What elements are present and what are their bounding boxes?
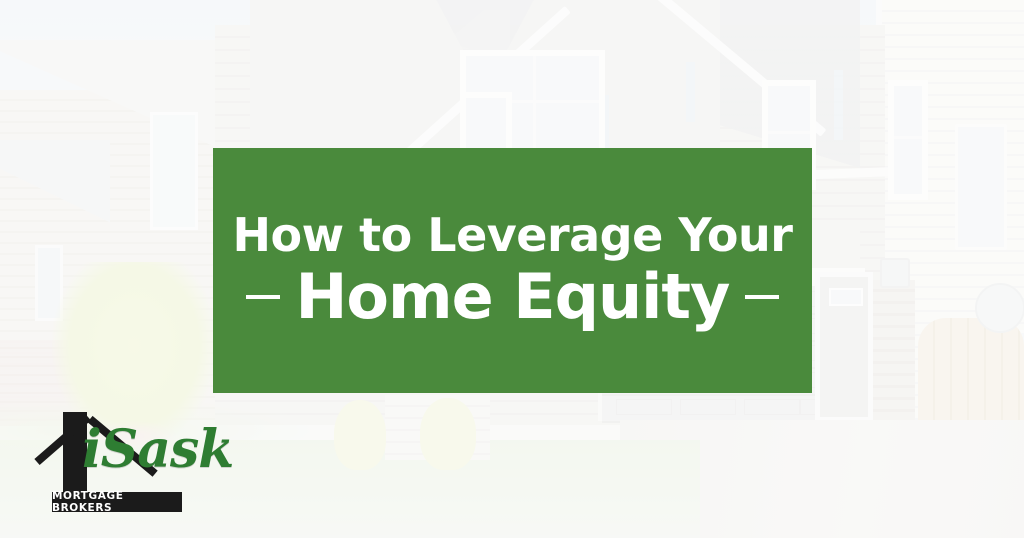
banner-image: How to Leverage Your Home Equity iSask M… xyxy=(0,0,1024,538)
trim-strip-3 xyxy=(834,70,843,140)
window-mullion-horizontal xyxy=(894,136,922,139)
isask-logo[interactable]: iSask MORTGAGE BROKERS xyxy=(30,400,182,515)
headline-banner: How to Leverage Your Home Equity xyxy=(213,148,812,393)
satellite-dish-icon xyxy=(975,283,1024,333)
shrub-right xyxy=(420,398,476,470)
logo-brand-text: iSask xyxy=(82,424,233,476)
headline-line-2-row: Home Equity xyxy=(246,264,780,329)
window-mullion-vertical xyxy=(533,56,536,152)
headline-line-2: Home Equity xyxy=(296,264,730,329)
side-door-window xyxy=(829,288,863,306)
stone-column xyxy=(873,280,915,440)
headline-line-1: How to Leverage Your xyxy=(233,212,793,258)
right-house-window-upper xyxy=(955,124,1007,250)
dash-left-icon xyxy=(246,295,280,299)
left-house-window-upper xyxy=(150,112,198,230)
shrub-left xyxy=(334,400,386,470)
logo-tagline-band: MORTGAGE BROKERS xyxy=(52,492,182,512)
trim-strip-2 xyxy=(686,62,695,122)
main-window-upper-right xyxy=(888,80,928,200)
logo-tagline-text: MORTGAGE BROKERS xyxy=(52,490,182,514)
window-mullion-horizontal xyxy=(768,131,810,134)
left-house-porch-roof xyxy=(0,140,110,250)
dash-right-icon xyxy=(745,295,779,299)
exterior-utility-box xyxy=(880,258,910,288)
